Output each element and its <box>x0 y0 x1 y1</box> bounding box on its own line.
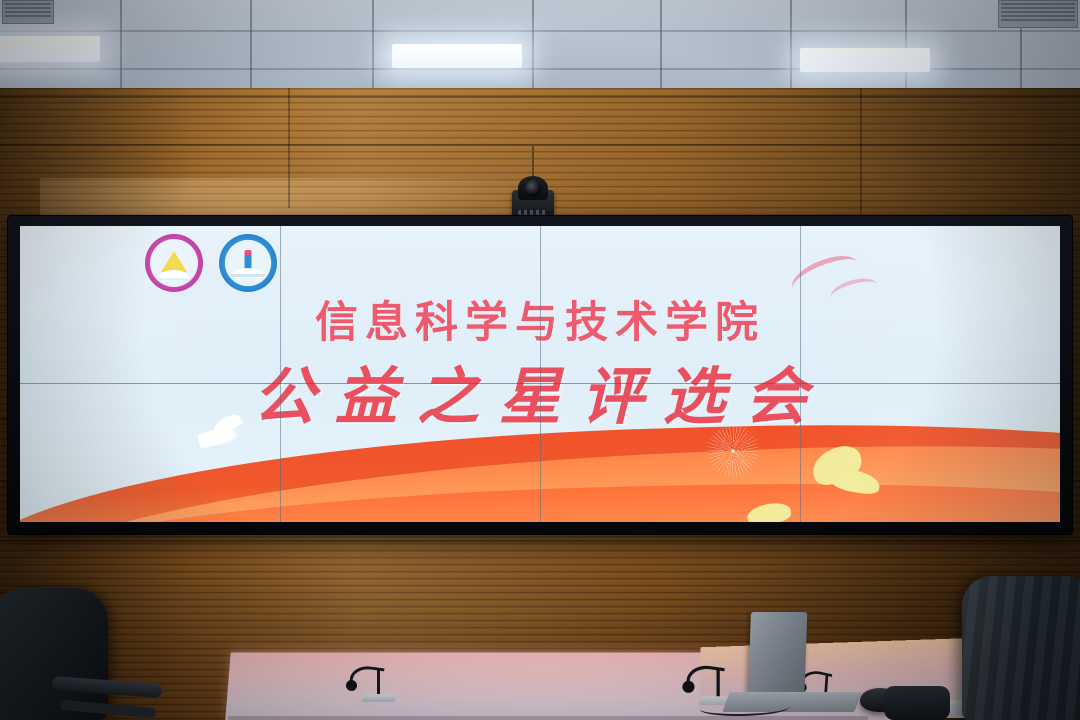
logo-group <box>145 234 277 292</box>
laptop[interactable] <box>748 612 807 700</box>
video-wall-screen[interactable]: 信息科学与技术学院 公益之星评选会 <box>20 226 1060 522</box>
table-edge <box>228 716 868 720</box>
chair-armrest <box>884 686 950 720</box>
conference-room-photo: 信息科学与技术学院 公益之星评选会 <box>0 0 1080 720</box>
suspended-ceiling <box>0 0 1080 92</box>
ceiling-light-panel <box>800 48 930 72</box>
camera-lens-icon <box>525 180 541 196</box>
video-wall-seam <box>280 226 281 522</box>
university-emblem-pink-icon <box>145 234 203 292</box>
yellow-dove-icon <box>747 500 805 522</box>
video-wall-seam <box>540 226 541 522</box>
video-wall-seam <box>800 226 801 522</box>
ceiling-light-panel <box>392 44 522 68</box>
yellow-dove-icon <box>806 448 880 494</box>
ceiling-light-panel <box>0 36 100 62</box>
led-video-wall[interactable]: 信息科学与技术学院 公益之星评选会 <box>8 216 1072 534</box>
air-vent <box>2 0 54 24</box>
video-wall-seam <box>20 383 1060 384</box>
college-emblem-blue-icon <box>219 234 277 292</box>
chair-left <box>0 588 108 720</box>
air-vent <box>998 0 1078 28</box>
